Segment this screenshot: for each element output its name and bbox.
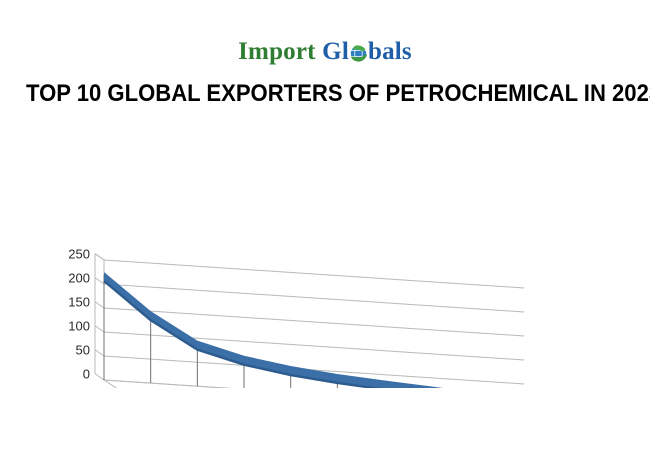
logo-text-gl: Gl bbox=[322, 38, 349, 65]
gridline bbox=[104, 332, 524, 360]
page-title: TOP 10 GLOBAL EXPORTERS OF PETROCHEMICAL… bbox=[26, 80, 624, 108]
line-chart-3d: 050100150200250USSaudi ArabiaChinaGerman… bbox=[0, 118, 650, 388]
y-tick bbox=[95, 302, 104, 308]
axis-labels: 050100150200250USSaudi ArabiaChinaGerman… bbox=[68, 247, 539, 388]
data-ribbon bbox=[104, 272, 527, 388]
y-axis-label: 0 bbox=[83, 367, 90, 382]
y-axis-label: 150 bbox=[68, 295, 90, 310]
gridline bbox=[104, 284, 524, 312]
gridline bbox=[104, 260, 524, 288]
globe-icon bbox=[349, 44, 368, 63]
y-tick bbox=[95, 350, 104, 356]
logo-text-bals: bals bbox=[368, 38, 412, 65]
brand-logo: Import Gl bals bbox=[0, 38, 650, 66]
y-axis-cap bbox=[95, 254, 104, 260]
y-axis-label: 50 bbox=[76, 343, 90, 358]
y-axis-label: 200 bbox=[68, 271, 90, 286]
chart-screenshot: Import Gl bals TOP 10 GLOBAL EXPORTERS O… bbox=[0, 0, 650, 450]
chart-area: 050100150200250USSaudi ArabiaChinaGerman… bbox=[0, 118, 650, 388]
logo-text-import: Import bbox=[238, 38, 316, 65]
y-tick bbox=[95, 278, 104, 284]
y-tick bbox=[95, 374, 104, 380]
y-axis-label: 100 bbox=[68, 319, 90, 334]
y-tick bbox=[95, 326, 104, 332]
y-axis-label: 250 bbox=[68, 247, 90, 262]
